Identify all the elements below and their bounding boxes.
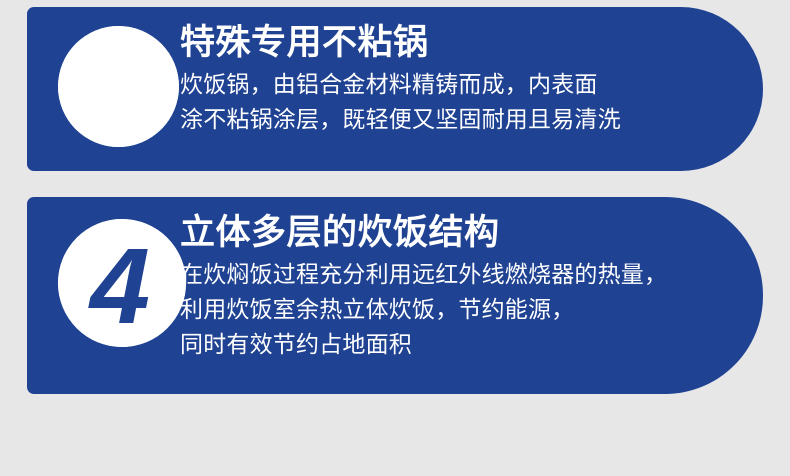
panel-3-title: 特殊专用不粘锅: [180, 20, 755, 65]
panel-3-text-column: 特殊专用不粘锅 炊饭锅，由铝合金材料精铸而成，内表面 涂不粘锅涂层，既轻便又坚固…: [180, 20, 755, 137]
panel-3-body-line-2: 涂不粘锅涂层，既轻便又坚固耐用且易清洗: [180, 102, 755, 137]
panel-4-title: 立体多层的炊饭结构: [180, 209, 755, 256]
panel-4-body-line-3: 同时有效节约占地面积: [180, 327, 755, 362]
panel-4-body: 在炊焖饭过程充分利用远红外线燃烧器的热量， 利用炊饭室余热立体炊饭，节约能源， …: [180, 257, 755, 362]
panel-4-body-line-2: 利用炊饭室余热立体炊饭，节约能源，: [180, 292, 755, 327]
panel-4-body-line-1: 在炊焖饭过程充分利用远红外线燃烧器的热量，: [180, 257, 755, 292]
panel-3-body-line-1: 炊饭锅，由铝合金材料精铸而成，内表面: [180, 67, 755, 102]
badge-number-3: 3: [58, 26, 179, 147]
panel-4-text-column: 立体多层的炊饭结构 在炊焖饭过程充分利用远红外线燃烧器的热量， 利用炊饭室余热立…: [180, 209, 755, 362]
svg-text:4: 4: [88, 225, 150, 346]
feature-panel-4: 4 立体多层的炊饭结构 在炊焖饭过程充分利用远红外线燃烧器的热量， 利用炊饭室余…: [27, 197, 763, 394]
feature-panels-stage: 3 特殊专用不粘锅 炊饭锅，由铝合金材料精铸而成，内表面 涂不粘锅涂层，既轻便又…: [0, 0, 790, 476]
panel-3-body: 炊饭锅，由铝合金材料精铸而成，内表面 涂不粘锅涂层，既轻便又坚固耐用且易清洗: [180, 67, 755, 137]
feature-panel-3: 3 特殊专用不粘锅 炊饭锅，由铝合金材料精铸而成，内表面 涂不粘锅涂层，既轻便又…: [27, 7, 763, 171]
badge-number-4: 4: [58, 219, 186, 347]
